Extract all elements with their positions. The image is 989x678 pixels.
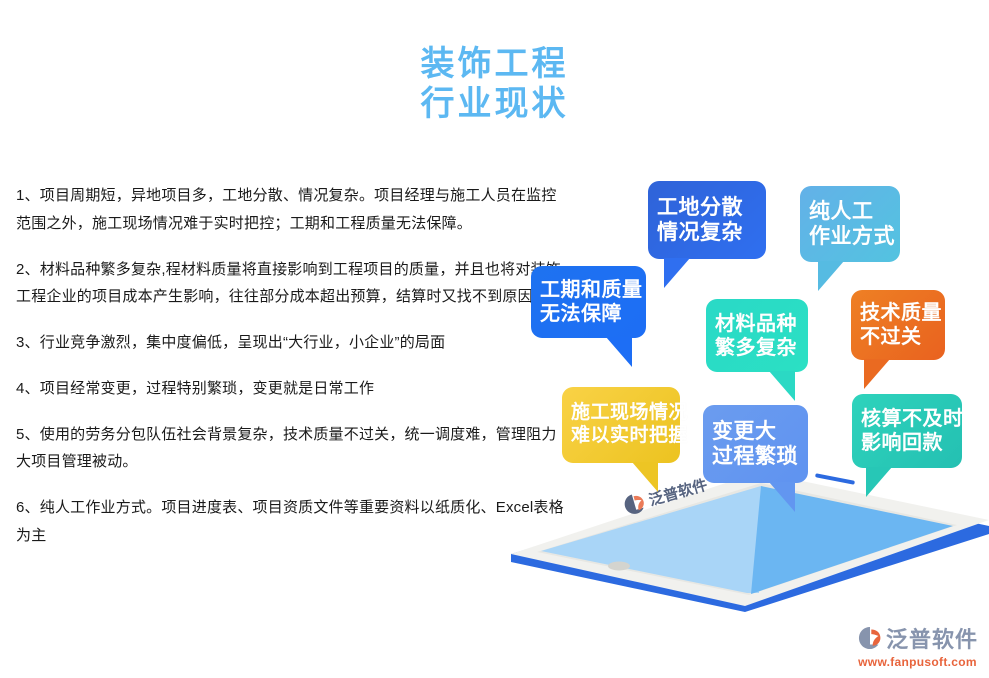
callout-line-1: 变更大 (712, 419, 799, 444)
paragraph-5: 5、使用的劳务分包队伍社会背景复杂，技术质量不过关，统一调度难，管理阻力大项目管… (16, 421, 564, 477)
callout-bubble-site-scattered: 工地分散情况复杂 (648, 181, 766, 259)
tablet-svg (497, 470, 989, 620)
callout-tail (664, 258, 690, 288)
callout-tail (769, 371, 795, 401)
paragraph-3: 3、行业竞争激烈，集中度偏低，呈现出“大行业，小企业”的局面 (16, 329, 564, 357)
callout-line-2: 过程繁琐 (712, 444, 799, 469)
tablet-speaker-slot (815, 473, 855, 485)
callout-tail (606, 337, 632, 367)
tablet-home-button (608, 562, 630, 571)
page-title-line-1: 装饰工程 (0, 44, 989, 84)
callout-line-1: 纯人工 (809, 199, 891, 224)
fanpu-brand-icon (857, 625, 883, 651)
poster-canvas: 装饰工程 行业现状 1、项目周期短，异地项目多，工地分散、情况复杂。项目经理与施… (0, 0, 989, 678)
callout-tail (632, 462, 658, 492)
paragraph-2: 2、材料品种繁多复杂,程材料质量将直接影响到工程项目的质量，并且也将对装饰工程企… (16, 256, 564, 312)
callout-line-1: 工期和质量 (540, 278, 637, 302)
callout-line-1: 核算不及时 (861, 407, 953, 431)
callout-line-1: 工地分散 (657, 195, 757, 220)
tablet-illustration (497, 470, 989, 620)
callout-line-2: 无法保障 (540, 302, 637, 326)
paragraph-6: 6、纯人工作业方式。项目进度表、项目资质文件等重要资料以纸质化、Excel表格为… (16, 494, 564, 550)
brand-logo-row: 泛普软件 (857, 622, 978, 654)
callout-bubble-tech-quality-fail: 技术质量不过关 (851, 290, 945, 360)
brand-url-text: www.fanpusoft.com (858, 655, 977, 669)
callout-line-1: 材料品种 (715, 312, 799, 336)
callout-line-2: 情况复杂 (657, 220, 757, 245)
callout-line-2: 难以实时把握 (571, 425, 671, 448)
callout-bubble-frequent-changes: 变更大过程繁琐 (703, 405, 808, 483)
callout-line-2: 不过关 (860, 325, 936, 349)
page-title: 装饰工程 行业现状 (0, 44, 989, 124)
brand-name-text: 泛普软件 (886, 622, 978, 654)
paragraph-1: 1、项目周期短，异地项目多，工地分散、情况复杂。项目经理与施工人员在监控范围之外… (16, 182, 564, 238)
callout-line-1: 技术质量 (860, 301, 936, 325)
callout-tail (864, 359, 890, 389)
brand-logo: 泛普软件 www.fanpusoft.com (857, 622, 978, 669)
industry-status-text-column: 1、项目周期短，异地项目多，工地分散、情况复杂。项目经理与施工人员在监控范围之外… (16, 182, 564, 550)
callout-tail (769, 482, 795, 512)
paragraph-4: 4、项目经常变更，过程特别繁琐，变更就是日常工作 (16, 375, 564, 403)
callout-line-2: 作业方式 (809, 224, 891, 249)
callout-line-2: 影响回款 (861, 431, 953, 455)
callout-bubble-accounting-delay: 核算不及时影响回款 (852, 394, 962, 468)
callout-bubble-site-status-hard-to-track: 施工现场情况难以实时把握 (562, 387, 680, 463)
callout-line-2: 繁多复杂 (715, 336, 799, 360)
callout-tail (866, 467, 892, 497)
callout-bubble-manual-work-mode: 纯人工作业方式 (800, 186, 900, 262)
callout-tail (818, 261, 844, 291)
page-title-line-2: 行业现状 (0, 84, 989, 124)
callout-bubble-material-variety: 材料品种繁多复杂 (706, 299, 808, 372)
callout-line-1: 施工现场情况 (571, 402, 671, 425)
callout-bubble-schedule-quality-risk: 工期和质量无法保障 (531, 266, 646, 338)
